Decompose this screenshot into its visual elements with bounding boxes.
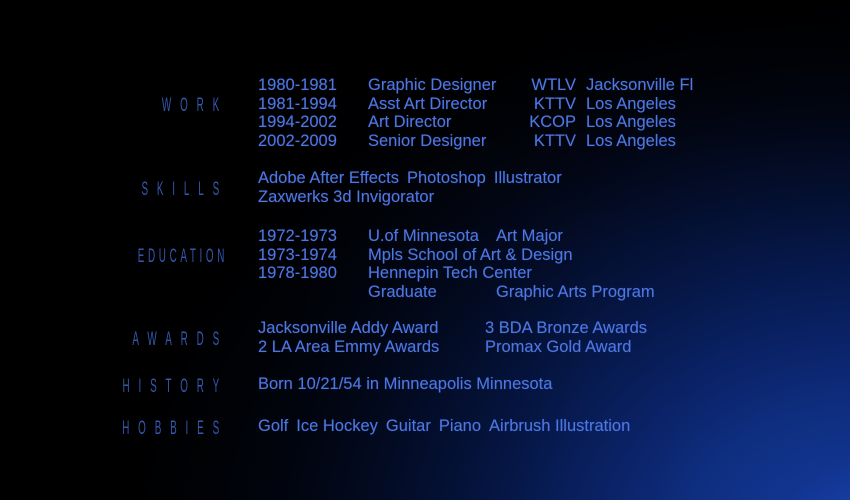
skill-item: Illustrator <box>494 169 562 187</box>
work-role: Asst Art Director <box>368 95 518 114</box>
education-row: 1973-1974Mpls School of Art & Design <box>258 246 655 265</box>
work-station: WTLV <box>518 76 576 95</box>
section-label-education: EDUCATION <box>103 247 228 266</box>
education-row: 1978-1980Hennepin Tech Center <box>258 264 655 283</box>
education-row: GraduateGraphic Arts Program <box>258 283 655 302</box>
award-item: 2 LA Area Emmy Awards <box>258 338 485 357</box>
award-item: 3 BDA Bronze Awards <box>485 319 647 337</box>
education-detail: Art Major <box>496 227 563 245</box>
education-row: 1972-1973U.of MinnesotaArt Major <box>258 227 655 246</box>
work-years: 2002-2009 <box>258 132 368 151</box>
section-label-hobbies: HOBBIES <box>103 419 228 438</box>
hobby-item: Piano <box>439 417 481 435</box>
education-school: Graduate <box>368 283 496 302</box>
hobby-item: Ice Hockey <box>296 417 378 435</box>
skill-item: Zaxwerks 3d Invigorator <box>258 188 434 206</box>
awards-row: Jacksonville Addy Award3 BDA Bronze Awar… <box>258 319 647 338</box>
work-row: 1994-2002Art DirectorKCOPLos Angeles <box>258 113 693 132</box>
work-years: 1980-1981 <box>258 76 368 95</box>
section-label-history: HISTORY <box>103 377 228 396</box>
section-body-hobbies: GolfIce HockeyGuitarPianoAirbrush Illust… <box>258 417 630 436</box>
section-body-skills: Adobe After EffectsPhotoshopIllustrator … <box>258 169 562 206</box>
work-station: KCOP <box>518 113 576 132</box>
skills-row: Zaxwerks 3d Invigorator <box>258 188 562 207</box>
skill-item: Adobe After Effects <box>258 169 399 187</box>
education-school: Mpls School of Art & Design <box>368 246 496 265</box>
education-years: 1972-1973 <box>258 227 368 246</box>
history-text: Born 10/21/54 in Minneapolis Minnesota <box>258 375 552 394</box>
hobby-item: Golf <box>258 417 288 435</box>
hobbies-row: GolfIce HockeyGuitarPianoAirbrush Illust… <box>258 417 630 436</box>
section-label-awards: AWARDS <box>103 330 228 349</box>
section-body-history: Born 10/21/54 in Minneapolis Minnesota <box>258 375 552 394</box>
work-row: 1981-1994Asst Art DirectorKTTVLos Angele… <box>258 95 693 114</box>
education-school: U.of Minnesota <box>368 227 496 246</box>
education-detail: Graphic Arts Program <box>496 283 655 301</box>
education-years: 1978-1980 <box>258 264 368 283</box>
skill-item: Photoshop <box>407 169 486 187</box>
award-item: Jacksonville Addy Award <box>258 319 485 338</box>
section-body-awards: Jacksonville Addy Award3 BDA Bronze Awar… <box>258 319 647 356</box>
skills-row: Adobe After EffectsPhotoshopIllustrator <box>258 169 562 188</box>
work-row: 1980-1981Graphic DesignerWTLVJacksonvill… <box>258 76 693 95</box>
section-body-work: 1980-1981Graphic DesignerWTLVJacksonvill… <box>258 76 693 150</box>
education-school: Hennepin Tech Center <box>368 264 496 283</box>
work-years: 1994-2002 <box>258 113 368 132</box>
section-label-work: WORK <box>103 96 228 115</box>
work-city: Los Angeles <box>576 95 676 114</box>
work-years: 1981-1994 <box>258 95 368 114</box>
section-body-education: 1972-1973U.of MinnesotaArt Major 1973-19… <box>258 227 655 301</box>
education-years: 1973-1974 <box>258 246 368 265</box>
work-row: 2002-2009Senior DesignerKTTVLos Angeles <box>258 132 693 151</box>
resume-canvas: WORK 1980-1981Graphic DesignerWTLVJackso… <box>0 0 850 500</box>
work-role: Senior Designer <box>368 132 518 151</box>
work-role: Graphic Designer <box>368 76 518 95</box>
work-role: Art Director <box>368 113 518 132</box>
resume-content: WORK 1980-1981Graphic DesignerWTLVJackso… <box>0 0 850 500</box>
work-city: Los Angeles <box>576 113 676 132</box>
work-city: Jacksonville Fl <box>576 76 693 95</box>
work-station: KTTV <box>518 95 576 114</box>
work-station: KTTV <box>518 132 576 151</box>
hobby-item: Airbrush Illustration <box>489 417 630 435</box>
award-item: Promax Gold Award <box>485 338 631 356</box>
section-label-skills: SKILLS <box>103 180 228 199</box>
hobby-item: Guitar <box>386 417 431 435</box>
awards-row: 2 LA Area Emmy AwardsPromax Gold Award <box>258 338 647 357</box>
work-city: Los Angeles <box>576 132 676 151</box>
